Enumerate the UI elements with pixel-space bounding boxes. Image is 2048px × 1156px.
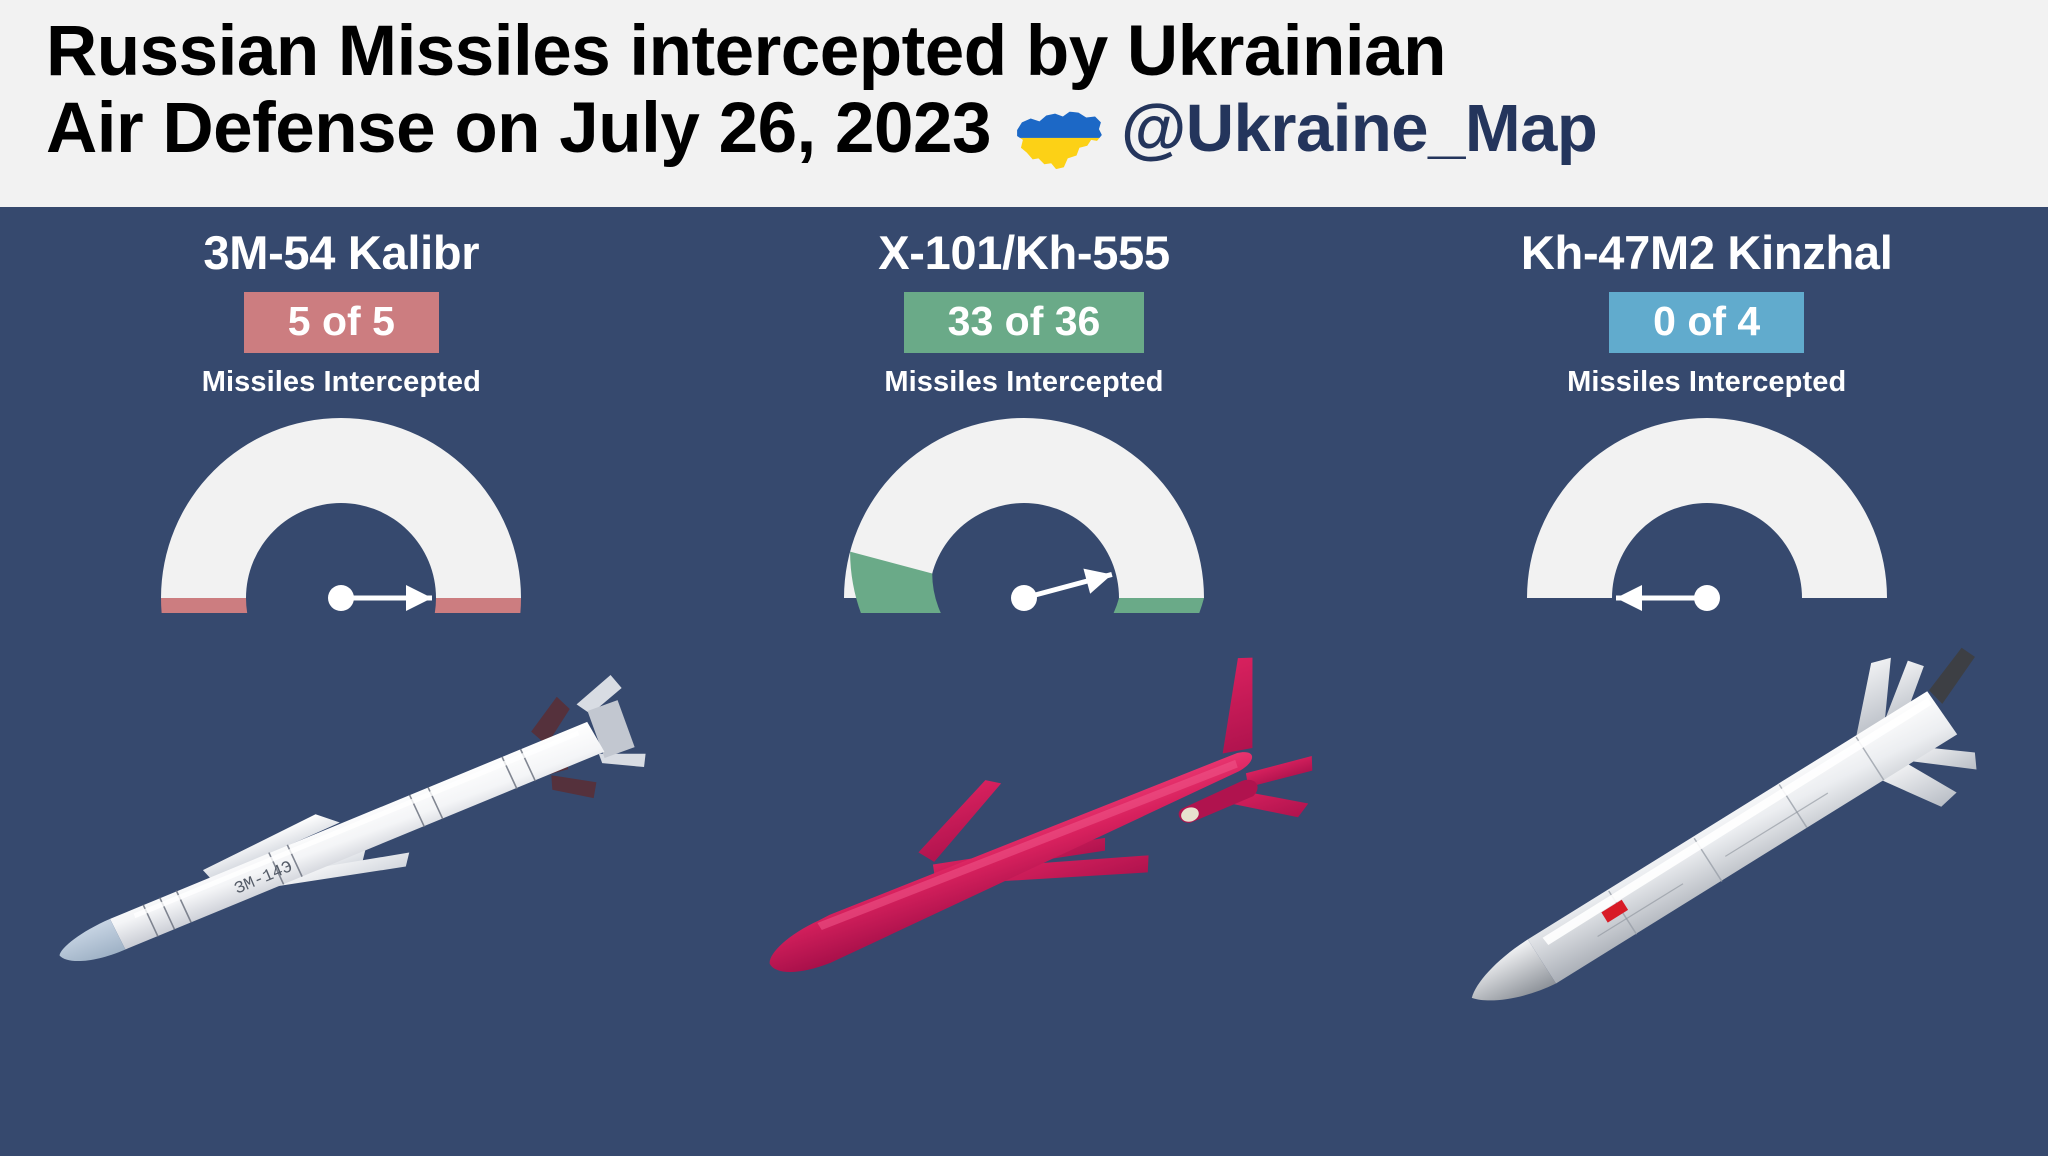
gauge-panels: 3M-54 Kalibr 5 of 5 Missiles Intercepted: [0, 207, 2048, 1156]
gauge-kalibr: [106, 403, 576, 613]
panel-kinzhal-head: Kh-47M2 Kinzhal 0 of 4 Missiles Intercep…: [1365, 229, 2048, 399]
account-handle: @Ukraine_Map: [1121, 93, 1597, 165]
header-banner: Russian Missiles intercepted by Ukrainia…: [0, 0, 2048, 207]
panel-kinzhal-sublabel: Missiles Intercepted: [1365, 366, 2048, 399]
panel-kinzhal-title: Kh-47M2 Kinzhal: [1365, 229, 2048, 276]
kh101-missile-icon: [724, 646, 1330, 992]
page-title-line1: Russian Missiles intercepted by Ukrainia…: [46, 14, 2048, 91]
gauge-kinzhal: [1472, 403, 1942, 613]
panel-kalibr: 3M-54 Kalibr 5 of 5 Missiles Intercepted: [0, 207, 683, 1156]
panel-x101-value-badge: 33 of 36: [904, 292, 1145, 353]
panel-x101: X-101/Kh-555 33 of 36 Missiles Intercept…: [683, 207, 1366, 1156]
panel-kinzhal: Kh-47M2 Kinzhal 0 of 4 Missiles Intercep…: [1365, 207, 2048, 1156]
panel-x101-head: X-101/Kh-555 33 of 36 Missiles Intercept…: [683, 229, 1366, 399]
page-title-line2: Air Defense on July 26, 2023: [46, 91, 991, 168]
panel-x101-title: X-101/Kh-555: [683, 229, 1366, 276]
panel-kalibr-sublabel: Missiles Intercepted: [0, 366, 683, 399]
kinzhal-missile-icon: [1417, 621, 2028, 1029]
panel-x101-image: [683, 607, 1366, 1067]
panel-kalibr-image: ЗМ-14Э: [0, 607, 683, 1067]
panel-kalibr-head: 3M-54 Kalibr 5 of 5 Missiles Intercepted: [0, 229, 683, 399]
panel-x101-sublabel: Missiles Intercepted: [683, 366, 1366, 399]
panel-kinzhal-image: [1365, 607, 2048, 1067]
infographic-root: Russian Missiles intercepted by Ukrainia…: [0, 0, 2048, 1156]
panel-kinzhal-value-badge: 0 of 4: [1609, 292, 1804, 353]
panel-kalibr-value-badge: 5 of 5: [244, 292, 439, 353]
ukraine-map-flag-icon: [1009, 97, 1107, 175]
panel-kalibr-title: 3M-54 Kalibr: [0, 229, 683, 276]
page-title-line2-row: Air Defense on July 26, 2023 @Ukraine_Ma…: [46, 91, 2048, 169]
kalibr-missile-icon: ЗМ-14Э: [34, 673, 654, 988]
gauge-x101: [789, 403, 1259, 613]
gauge-x101-needle: [1011, 569, 1112, 611]
